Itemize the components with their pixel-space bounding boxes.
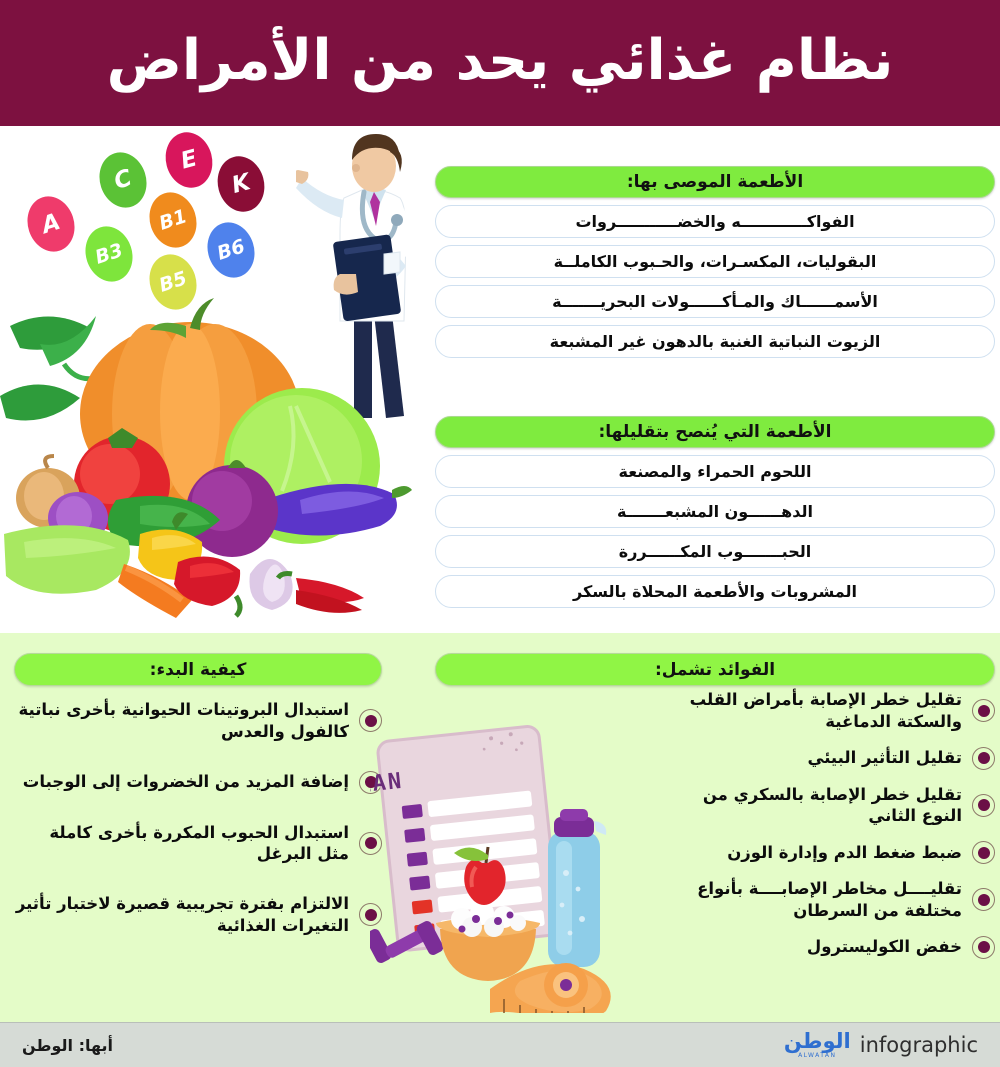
how-to-start-text: استبدال البروتينات الحيوانية بأخرى نباتي…: [14, 699, 349, 743]
bullet-dot-icon: [972, 936, 995, 959]
alwatan-logo: الوطن ALWATAN: [784, 1031, 851, 1059]
recommended-food-text: الأسمــــــاك والمـأكــــــولات البحريــ…: [552, 292, 878, 311]
vitamin-bubble-b3: B3: [78, 220, 139, 287]
benefits-heading: الفوائد تشمل:: [435, 653, 995, 686]
how-to-start-item: استبدال الحبوب المكررة بأخرى كاملة مثل ا…: [14, 822, 382, 866]
reduce-foods-list: اللحوم الحمراء والمصنعةالدهــــــون المش…: [435, 455, 995, 608]
benefits-list: تقليل خطر الإصابة بأمراض القلب والسكتة ا…: [660, 689, 995, 973]
diet-plan-illustration: DIET PLAN: [370, 723, 670, 1013]
benefit-text: تقليل خطر الإصابة بالسكري من النوع الثان…: [660, 784, 962, 828]
benefit-text: خفض الكوليسترول: [660, 936, 962, 958]
bullet-dot-icon: [972, 794, 995, 817]
infographic-page: نظام غذائي يحد من الأمراض ACEKB1B3B5B6: [0, 0, 1000, 1067]
reduce-food-text: اللحوم الحمراء والمصنعة: [619, 462, 812, 481]
reduce-foods-panel: الأطعمة التي يُنصح بتقليلها: اللحوم الحم…: [435, 416, 995, 608]
bottom-section: كيفية البدء: استبدال البروتينات الحيواني…: [0, 633, 1000, 1067]
reduce-foods-heading: الأطعمة التي يُنصح بتقليلها:: [435, 416, 995, 448]
benefit-text: تقليل خطر الإصابة بأمراض القلب والسكتة ا…: [660, 689, 962, 733]
recommended-foods-list: الفواكــــــــــــه والخضـــــــــــروات…: [435, 205, 995, 358]
how-to-start-item: استبدال البروتينات الحيوانية بأخرى نباتي…: [14, 699, 382, 743]
benefit-item: خفض الكوليسترول: [660, 936, 995, 959]
recommended-foods-heading: الأطعمة الموصى بها:: [435, 166, 995, 198]
recommended-food-row: الزيوت النباتية الغنية بالدهون غير المشب…: [435, 325, 995, 358]
benefit-item: تقليل التأثير البيئي: [660, 747, 995, 770]
recommended-food-text: الفواكــــــــــــه والخضـــــــــــروات: [575, 212, 854, 231]
vitamin-bubble-c: C: [92, 146, 153, 213]
bullet-dot-icon: [972, 888, 995, 911]
vitamin-bubble-b1: B1: [142, 186, 203, 253]
page-title: نظام غذائي يحد من الأمراض: [107, 33, 894, 89]
how-to-start-item: إضافة المزيد من الخضروات إلى الوجبات: [14, 771, 382, 794]
footer-bar: الوطن ALWATAN infographic أبها: الوطن: [0, 1022, 1000, 1067]
vitamin-bubble-e: E: [160, 127, 219, 193]
how-to-start-text: الالتزام بفترة تجريبية قصيرة لاختبار تأث…: [14, 893, 349, 937]
benefit-text: تقليــــل مخاطر الإصابــــة بأنواع مختلف…: [660, 878, 962, 922]
vitamin-bubble-a: A: [20, 190, 81, 257]
source-credit: أبها: الوطن: [22, 1036, 113, 1055]
infographic-label: infographic: [860, 1033, 978, 1057]
recommended-food-text: الزيوت النباتية الغنية بالدهون غير المشب…: [550, 332, 881, 351]
recommended-food-row: البقوليات، المكسـرات، والحـبوب الكاملــة: [435, 245, 995, 278]
reduce-food-text: الدهــــــون المشبعـــــــة: [617, 502, 813, 521]
logo-arabic-text: الوطن: [784, 1029, 851, 1053]
how-to-start-heading: كيفية البدء:: [14, 653, 382, 686]
bullet-dot-icon: [972, 747, 995, 770]
vitamin-bubble-k: K: [212, 151, 271, 217]
benefit-item: ضبط ضغط الدم وإدارة الوزن: [660, 841, 995, 864]
bullet-dot-icon: [972, 841, 995, 864]
brand-logo-group: الوطن ALWATAN infographic: [784, 1031, 978, 1059]
reduce-food-row: اللحوم الحمراء والمصنعة: [435, 455, 995, 488]
benefit-text: ضبط ضغط الدم وإدارة الوزن: [660, 842, 962, 864]
benefit-item: تقليل خطر الإصابة بالسكري من النوع الثان…: [660, 784, 995, 828]
header-banner: نظام غذائي يحد من الأمراض: [0, 0, 1000, 126]
reduce-food-row: الحبـــــــوب المكــــــررة: [435, 535, 995, 568]
bullet-dot-icon: [972, 699, 995, 722]
vitamin-bubble-b6: B6: [200, 216, 261, 283]
reduce-food-text: المشروبات والأطعمة المحلاة بالسكر: [573, 582, 857, 601]
reduce-food-row: الدهــــــون المشبعـــــــة: [435, 495, 995, 528]
logo-latin-text: ALWATAN: [798, 1053, 836, 1059]
recommended-food-text: البقوليات، المكسـرات، والحـبوب الكاملــة: [554, 252, 877, 271]
recommended-food-row: الفواكــــــــــــه والخضـــــــــــروات: [435, 205, 995, 238]
how-to-start-text: استبدال الحبوب المكررة بأخرى كاملة مثل ا…: [14, 822, 349, 866]
top-section: ACEKB1B3B5B6: [0, 126, 1000, 633]
benefit-text: تقليل التأثير البيئي: [660, 747, 962, 769]
how-to-start-text: إضافة المزيد من الخضروات إلى الوجبات: [14, 771, 349, 793]
recommended-food-row: الأسمــــــاك والمـأكــــــولات البحريــ…: [435, 285, 995, 318]
reduce-food-text: الحبـــــــوب المكــــــررة: [619, 542, 811, 561]
how-to-start-list: استبدال البروتينات الحيوانية بأخرى نباتي…: [14, 699, 382, 965]
benefit-item: تقليل خطر الإصابة بأمراض القلب والسكتة ا…: [660, 689, 995, 733]
benefit-item: تقليــــل مخاطر الإصابــــة بأنواع مختلف…: [660, 878, 995, 922]
vegetables-illustration: [0, 286, 420, 626]
how-to-start-item: الالتزام بفترة تجريبية قصيرة لاختبار تأث…: [14, 893, 382, 937]
reduce-food-row: المشروبات والأطعمة المحلاة بالسكر: [435, 575, 995, 608]
recommended-foods-panel: الأطعمة الموصى بها: الفواكــــــــــــه …: [435, 166, 995, 358]
